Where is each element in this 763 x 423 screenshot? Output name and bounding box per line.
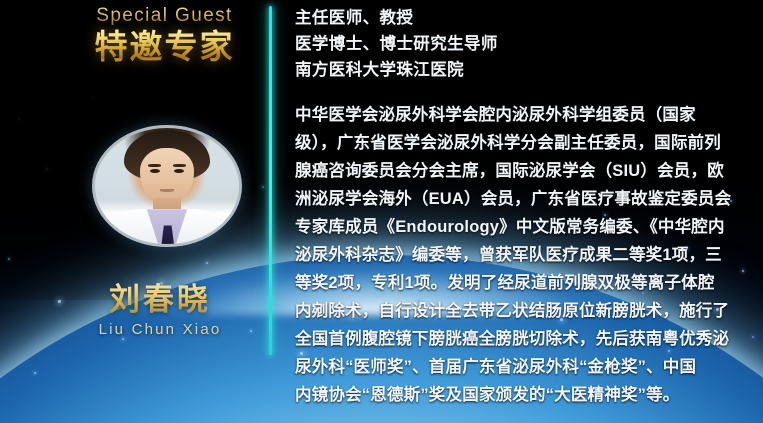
special-guest-badge: Special Guest 特邀专家 (62, 4, 267, 67)
speaker-intro-slide: Special Guest 特邀专家 刘春晓 Liu Chun Xiao 主任医… (0, 0, 763, 423)
avatar-eye-right (174, 169, 184, 173)
avatar-eye-left (150, 169, 160, 173)
speaker-title-line: 医学博士、博士研究生导师 (295, 31, 753, 57)
avatar-photo (95, 128, 239, 244)
avatar-brow-left (148, 164, 161, 167)
speaker-biography: 中华医学会泌尿外科学会腔内泌尿外科学组委员（国家 级），广东省医学会泌尿外科学分… (295, 101, 755, 409)
bio-line: 全国首例腹腔镜下膀胱癌全膀胱切除术，先后获南粤优秀泌 (295, 325, 755, 353)
bio-line: 级），广东省医学会泌尿外科学分会副主任委员，国际前列 (295, 129, 755, 157)
speaker-title-line: 南方医科大学珠江医院 (295, 57, 753, 83)
speaker-name-block: 刘春晓 Liu Chun Xiao (36, 282, 284, 340)
bio-line: 泌尿外科杂志》编委等，曾获军队医疗成果二等奖1项，三 (295, 241, 755, 269)
bio-line: 腺癌咨询委员会分会主席，国际泌尿学会（SIU）会员，欧 (295, 157, 755, 185)
bio-line: 尿外科“医师奖”、首届广东省泌尿外科“金枪奖”、中国 (295, 353, 755, 381)
bio-line: 内镜协会“恩德斯”奖及国家颁发的“大医精神奖”等。 (295, 381, 755, 409)
special-guest-label-en: Special Guest (62, 4, 267, 28)
speaker-titles: 主任医师、教授 医学博士、博士研究生导师 南方医科大学珠江医院 (295, 5, 753, 83)
bio-line: 专家库成员《Endourology》中文版常务编委、《中华腔内 (295, 213, 755, 241)
vertical-divider (269, 6, 272, 355)
speaker-avatar (95, 128, 239, 244)
speaker-name-cn: 刘春晓 (36, 282, 284, 318)
speaker-title-line: 主任医师、教授 (295, 5, 753, 31)
bio-line: 中华医学会泌尿外科学会腔内泌尿外科学组委员（国家 (295, 101, 755, 129)
bio-line: 内剜除术，自行设计全去带乙状结肠原位新膀胱术，施行了 (295, 297, 755, 325)
bio-line: 洲泌尿学会海外（EUA）会员，广东省医疗事故鉴定委员会 (295, 185, 755, 213)
speaker-name-en: Liu Chun Xiao (36, 320, 284, 340)
avatar-brow-right (173, 164, 186, 167)
bio-line: 等奖2项，专利1项。发明了经尿道前列腺双极等离子体腔 (295, 269, 755, 297)
special-guest-label-cn: 特邀专家 (62, 27, 267, 67)
